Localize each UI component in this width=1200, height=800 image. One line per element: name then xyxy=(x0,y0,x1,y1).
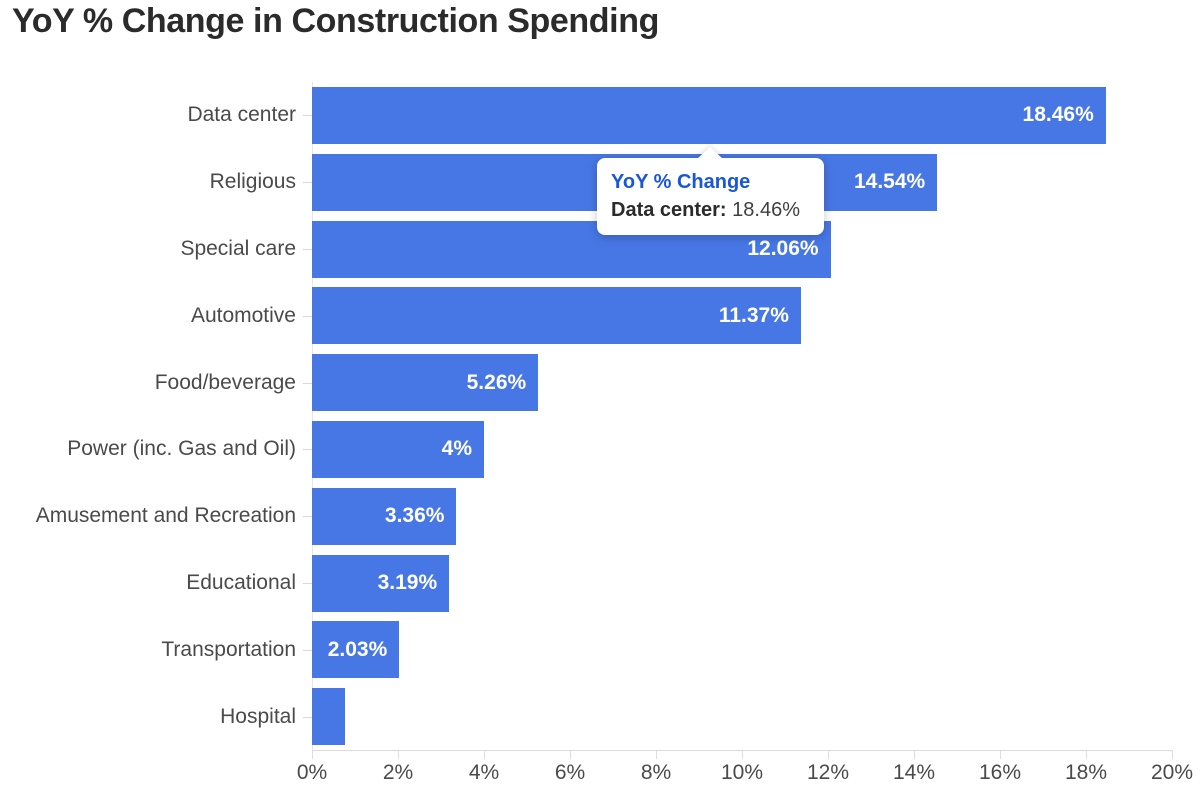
bar-value-label: 3.19% xyxy=(312,571,449,595)
y-axis-category-label: Educational xyxy=(186,571,296,595)
y-axis-category-label: Amusement and Recreation xyxy=(36,504,296,528)
x-axis-tick xyxy=(656,750,657,759)
bar-value-label: 18.46% xyxy=(312,103,1106,127)
bar-value-label: 4% xyxy=(312,437,484,461)
x-axis-tick-label: 20% xyxy=(1151,761,1193,785)
bar-value-label: 5.26% xyxy=(312,371,538,395)
y-axis-tick xyxy=(303,115,312,116)
tooltip: YoY % Change Data center: 18.46% xyxy=(597,158,824,235)
y-axis-category-label: Power (inc. Gas and Oil) xyxy=(67,437,296,461)
y-axis-category-label: Hospital xyxy=(220,705,296,729)
bar[interactable] xyxy=(312,688,345,745)
x-axis-tick-label: 6% xyxy=(555,761,585,785)
chart-title: YoY % Change in Construction Spending xyxy=(12,2,659,41)
bar-value-label: 12.06% xyxy=(312,237,831,261)
tooltip-value: 18.46% xyxy=(732,199,800,221)
y-axis-category-label: Data center xyxy=(187,103,296,127)
y-axis-tick xyxy=(303,650,312,651)
x-axis-tick xyxy=(398,750,399,759)
x-axis-tick xyxy=(1000,750,1001,759)
x-axis-tick xyxy=(914,750,915,759)
x-axis-tick xyxy=(1086,750,1087,759)
x-axis-tick-label: 16% xyxy=(979,761,1021,785)
x-axis-tick-label: 8% xyxy=(641,761,671,785)
x-axis-tick-label: 14% xyxy=(893,761,935,785)
y-axis-category-label: Automotive xyxy=(191,304,296,328)
x-axis-tick xyxy=(828,750,829,759)
y-axis-category-label: Special care xyxy=(180,237,296,261)
x-axis-tick-label: 10% xyxy=(721,761,763,785)
y-axis-tick xyxy=(303,516,312,517)
y-axis-category-label: Religious xyxy=(210,170,296,194)
x-axis-tick-label: 0% xyxy=(297,761,327,785)
y-axis-tick xyxy=(303,449,312,450)
y-axis-tick xyxy=(303,249,312,250)
y-axis-category-label: Transportation xyxy=(161,638,296,662)
y-axis-tick xyxy=(303,717,312,718)
bar-value-label: 11.37% xyxy=(312,304,801,328)
x-axis-tick xyxy=(742,750,743,759)
chart-container: YoY % Change in Construction Spending 0%… xyxy=(0,0,1200,800)
tooltip-key: Data center: xyxy=(611,199,727,221)
x-axis-tick xyxy=(1172,750,1173,759)
bar-value-label: 3.36% xyxy=(312,504,456,528)
y-axis-tick xyxy=(303,383,312,384)
x-axis-tick-label: 12% xyxy=(807,761,849,785)
y-axis-category-label: Food/beverage xyxy=(155,371,296,395)
y-axis-tick xyxy=(303,583,312,584)
tooltip-title: YoY % Change xyxy=(611,170,810,195)
x-axis-tick xyxy=(570,750,571,759)
y-axis-tick xyxy=(303,182,312,183)
tooltip-arrow-icon xyxy=(697,147,723,159)
x-axis-tick-label: 4% xyxy=(469,761,499,785)
tooltip-row: Data center: 18.46% xyxy=(611,198,810,223)
x-axis-tick-label: 18% xyxy=(1065,761,1107,785)
x-axis-tick xyxy=(312,750,313,759)
x-axis-tick-label: 2% xyxy=(383,761,413,785)
x-axis-tick xyxy=(484,750,485,759)
y-axis-tick xyxy=(303,316,312,317)
bar-value-label: 2.03% xyxy=(312,638,399,662)
